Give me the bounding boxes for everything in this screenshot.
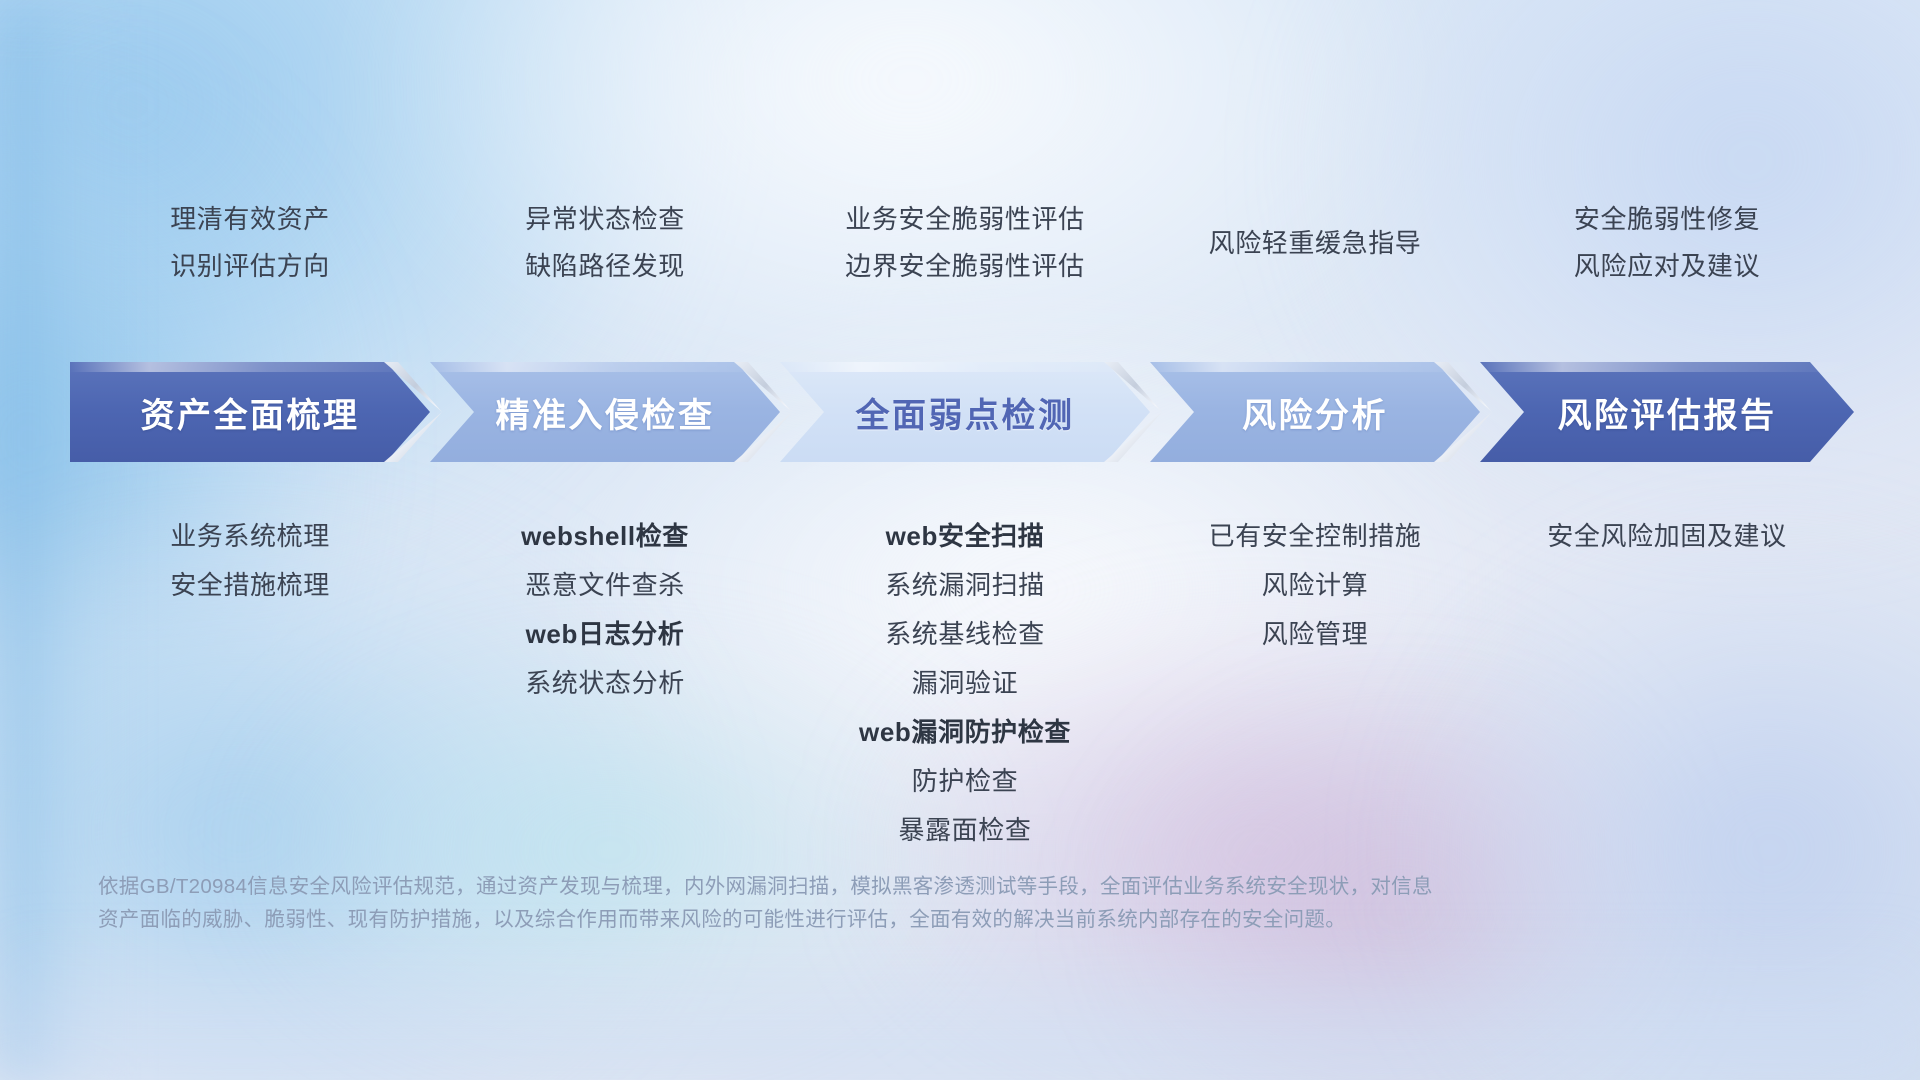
detail-list-item: web日志分析 — [430, 610, 780, 659]
footer-description: 依据GB/T20984信息安全风险评估规范，通过资产发现与梳理，内外网漏洞扫描，… — [98, 870, 1658, 936]
detail-list-item: 防护检查 — [780, 757, 1150, 806]
top-annotation-item: 识别评估方向 — [70, 243, 430, 290]
detail-list-item: 风险管理 — [1150, 610, 1480, 659]
stage-label: 风险评估报告 — [1558, 388, 1777, 437]
stage-label: 风险分析 — [1242, 388, 1388, 437]
footer-line-2: 资产面临的威胁、脆弱性、现有防护措施，以及综合作用而带来风险的可能性进行评估，全… — [98, 903, 1658, 936]
detail-list-intrusion-check: webshell检查恶意文件查杀web日志分析系统状态分析 — [430, 512, 780, 708]
stage-label: 全面弱点检测 — [856, 388, 1075, 437]
detail-list-risk-analysis: 已有安全控制措施风险计算风险管理 — [1150, 512, 1480, 659]
top-annotation-weakness-detection: 业务安全脆弱性评估边界安全脆弱性评估 — [780, 196, 1150, 290]
detail-list-item: 漏洞验证 — [780, 659, 1150, 708]
detail-list-item: 暴露面检查 — [780, 806, 1150, 855]
detail-list-item: 恶意文件查杀 — [430, 561, 780, 610]
detail-list-item: 系统基线检查 — [780, 610, 1150, 659]
process-stage-intrusion-check[interactable]: 精准入侵检查 — [430, 362, 780, 462]
top-annotation-item: 理清有效资产 — [70, 196, 430, 243]
process-stage-asset-inventory[interactable]: 资产全面梳理 — [70, 362, 430, 462]
top-annotation-item: 边界安全脆弱性评估 — [780, 243, 1150, 290]
detail-list-item: webshell检查 — [430, 512, 780, 561]
detail-list-item: 业务系统梳理 — [70, 512, 430, 561]
top-annotation-item: 风险轻重缓急指导 — [1150, 220, 1480, 267]
detail-list-asset-inventory: 业务系统梳理安全措施梳理 — [70, 512, 430, 610]
top-annotation-risk-report: 安全脆弱性修复风险应对及建议 — [1480, 196, 1854, 290]
detail-list-item: 系统状态分析 — [430, 659, 780, 708]
process-stage-risk-report[interactable]: 风险评估报告 — [1480, 362, 1854, 462]
footer-line-1: 依据GB/T20984信息安全风险评估规范，通过资产发现与梳理，内外网漏洞扫描，… — [98, 870, 1658, 903]
detail-list-item: 安全风险加固及建议 — [1480, 512, 1854, 561]
detail-list-item: 风险计算 — [1150, 561, 1480, 610]
top-annotation-item: 缺陷路径发现 — [430, 243, 780, 290]
top-annotation-item: 业务安全脆弱性评估 — [780, 196, 1150, 243]
top-annotation-item: 安全脆弱性修复 — [1480, 196, 1854, 243]
detail-list-item: web漏洞防护检查 — [780, 708, 1150, 757]
top-annotation-item: 风险应对及建议 — [1480, 243, 1854, 290]
detail-list-item: web安全扫描 — [780, 512, 1150, 561]
detail-list-item: 安全措施梳理 — [70, 561, 430, 610]
top-annotation-intrusion-check: 异常状态检查缺陷路径发现 — [430, 196, 780, 290]
stage-label: 精准入侵检查 — [496, 388, 715, 437]
process-stage-weakness-detection[interactable]: 全面弱点检测 — [780, 362, 1150, 462]
top-annotation-risk-analysis: 风险轻重缓急指导 — [1150, 220, 1480, 267]
detail-list-item: 系统漏洞扫描 — [780, 561, 1150, 610]
detail-list-risk-report: 安全风险加固及建议 — [1480, 512, 1854, 561]
stage-label: 资产全面梳理 — [141, 388, 360, 437]
detail-list-weakness-detection: web安全扫描系统漏洞扫描系统基线检查漏洞验证web漏洞防护检查防护检查暴露面检… — [780, 512, 1150, 855]
top-annotation-item: 异常状态检查 — [430, 196, 780, 243]
detail-list-item: 已有安全控制措施 — [1150, 512, 1480, 561]
process-stage-risk-analysis[interactable]: 风险分析 — [1150, 362, 1480, 462]
top-annotation-asset-inventory: 理清有效资产识别评估方向 — [70, 196, 430, 290]
process-flow-banner: 资产全面梳理精准入侵检查全面弱点检测风险分析风险评估报告 — [70, 362, 1854, 462]
